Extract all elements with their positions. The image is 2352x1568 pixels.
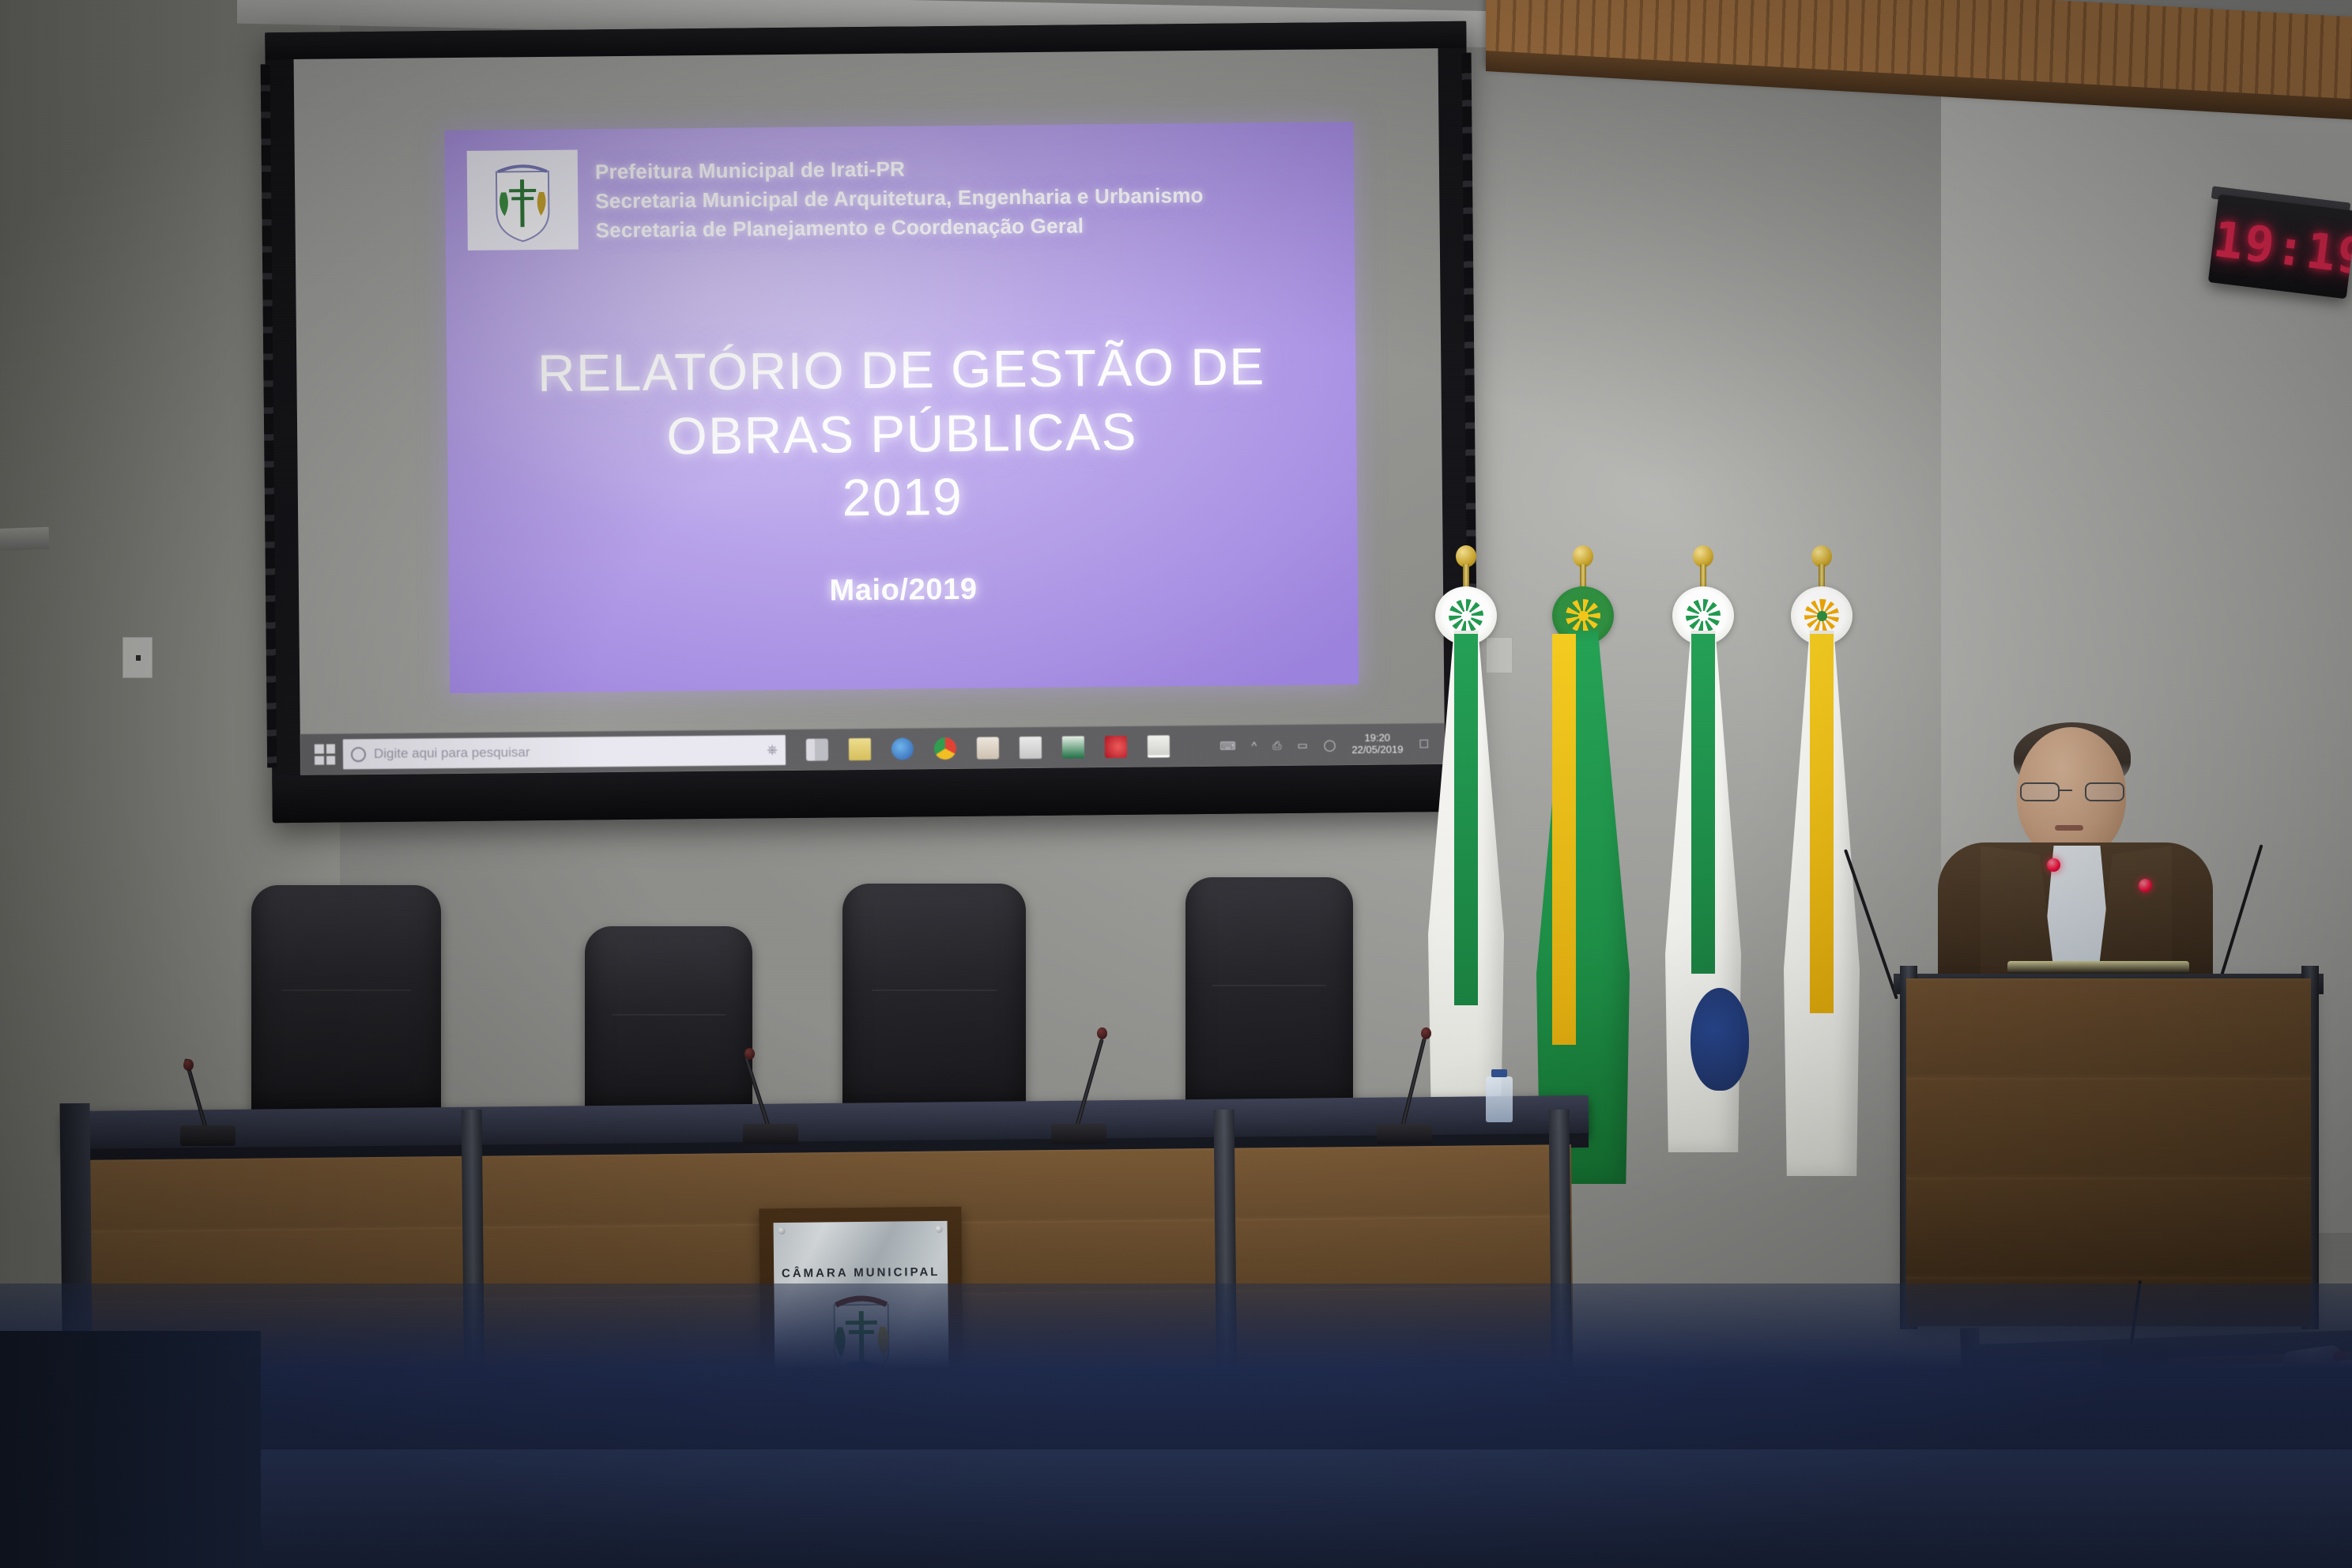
speaker-mouth <box>2055 825 2083 831</box>
network-icon[interactable]: ◯ <box>1324 738 1336 752</box>
slide-title-line-3: 2019 <box>448 461 1358 533</box>
flag-stripe <box>1691 634 1715 974</box>
edge-browser-icon[interactable] <box>891 737 914 759</box>
windows-start-icon[interactable] <box>315 744 335 765</box>
led-wall-clock: 19:19 <box>2208 194 2352 300</box>
flag-stripe <box>1454 634 1478 1005</box>
taskbar-clock-date: 22/05/2019 <box>1351 744 1403 757</box>
slide-date: Maio/2019 <box>449 569 1358 612</box>
carpet-foreground <box>0 1449 2352 1568</box>
flag-finial-icon <box>1456 545 1476 593</box>
screen-surface: Prefeitura Municipal de Irati-PR Secreta… <box>294 48 1445 775</box>
flag-finial-icon <box>1693 545 1713 593</box>
podium-microphone-left-led <box>2047 858 2060 872</box>
flag-finial-icon <box>1573 545 1593 593</box>
show-hidden-icons-chevron-icon[interactable]: ^ <box>1252 739 1257 752</box>
wall-shelf <box>0 527 49 551</box>
chair-1 <box>251 885 441 1122</box>
taskbar-app-icons[interactable] <box>806 735 1170 760</box>
flag-finial-icon <box>1811 545 1832 593</box>
taskbar-search-input[interactable]: Digite aqui para pesquisar ⎈ <box>343 735 786 769</box>
desk-microphone-1 <box>180 1051 240 1146</box>
chair-4 <box>1185 877 1353 1122</box>
conference-room-photo: Prefeitura Municipal de Irati-PR Secreta… <box>0 0 2352 1568</box>
slide-header-line-3: Secretaria de Planejamento e Coordenação… <box>595 209 1340 245</box>
desk-microphone-2 <box>743 1043 803 1144</box>
excel-icon[interactable] <box>1062 736 1084 758</box>
keyboard-layout-icon[interactable]: ⌨ <box>1219 739 1235 752</box>
plaque-top-text: CÂMARA MUNICIPAL <box>782 1265 940 1280</box>
microphone-icon[interactable]: ⎈ <box>767 742 778 758</box>
desk-microphone-4 <box>1377 1027 1437 1144</box>
desk-microphone-3 <box>1051 1027 1111 1144</box>
slide-header: Prefeitura Municipal de Irati-PR Secreta… <box>595 150 1340 245</box>
flag-parana-globe <box>1690 988 1749 1091</box>
chair-2 <box>585 926 752 1125</box>
slide-title: RELATÓRIO DE GESTÃO DE OBRAS PÚBLICAS 20… <box>447 334 1357 533</box>
projection-screen: Prefeitura Municipal de Irati-PR Secreta… <box>265 21 1474 824</box>
speaker-glasses-icon <box>2020 782 2124 801</box>
crest-svg <box>492 157 554 243</box>
flag-stripe <box>1552 634 1576 1045</box>
podium-microphone-right-led <box>2139 879 2152 892</box>
podium-body <box>1906 978 2311 1326</box>
task-view-icon[interactable] <box>806 739 828 761</box>
corel-icon[interactable] <box>1105 736 1127 758</box>
chair-3 <box>842 884 1026 1124</box>
nfc-app-icon[interactable] <box>1020 737 1042 759</box>
media-player-icon[interactable] <box>977 737 999 759</box>
speaker-person <box>1944 727 2205 988</box>
slide-title-line-2: OBRAS PÚBLICAS <box>447 398 1357 470</box>
powerpoint-icon[interactable] <box>1148 735 1170 757</box>
water-bottle <box>1486 1076 1513 1122</box>
printer-icon[interactable]: ⎙ <box>1272 739 1281 752</box>
taskbar-system-tray[interactable]: ⌨ ^ ⎙ ▭ ◯ 19:20 22/05/2019 ☐ <box>1219 732 1435 757</box>
projected-slide: Prefeitura Municipal de Irati-PR Secreta… <box>444 122 1359 693</box>
taskbar-clock[interactable]: 19:20 22/05/2019 <box>1351 733 1403 756</box>
light-switch-plate[interactable] <box>122 637 153 678</box>
cortana-search-icon <box>351 747 366 762</box>
carpet-left-shadow <box>0 1331 261 1568</box>
led-clock-time: 19:19 <box>2211 209 2352 285</box>
flag-stripe <box>1810 634 1834 1013</box>
brasao-irati-crest <box>467 150 579 251</box>
chrome-browser-icon[interactable] <box>934 737 956 759</box>
file-explorer-icon[interactable] <box>849 738 871 760</box>
search-placeholder-text: Digite aqui para pesquisar <box>374 744 530 762</box>
slide-title-line-1: RELATÓRIO DE GESTÃO DE <box>447 334 1356 406</box>
battery-icon[interactable]: ▭ <box>1297 738 1307 752</box>
